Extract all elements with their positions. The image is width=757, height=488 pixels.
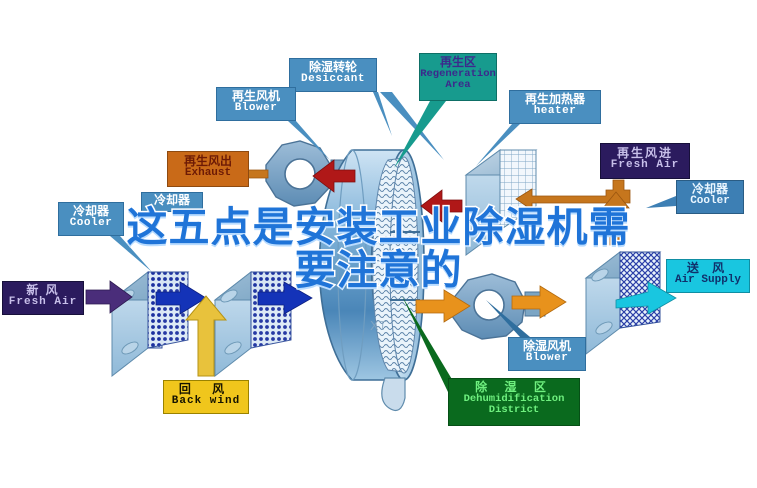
label-en: Cooler (677, 196, 743, 208)
label-fresh-air-inlet[interactable]: 新 风 Fresh Air (2, 281, 84, 315)
label-cn: 再生区 (420, 56, 496, 69)
label-cn: 回 风 (164, 383, 248, 396)
label-dehumid-blower[interactable]: 除湿风机 Blower (508, 337, 586, 371)
label-regen-blower[interactable]: 再生风机 Blower (216, 87, 296, 121)
label-en: Back wind (164, 396, 248, 408)
label-en: Blower (509, 353, 585, 365)
label-cooler-right[interactable]: 冷却器 Cooler (676, 180, 744, 214)
label-en: Air Supply (667, 275, 749, 287)
watermark: XT (370, 318, 387, 333)
cooler-block-left-2 (215, 272, 291, 376)
label-desiccant-wheel[interactable]: 除湿转轮 Desiccant (289, 58, 377, 92)
label-cooler-upper[interactable]: 冷却器 (141, 192, 203, 212)
diagram-canvas: XT (0, 0, 757, 488)
label-cn: 再生风机 (217, 90, 295, 103)
label-cn: 冷却器 (59, 205, 123, 218)
label-en: Desiccant (290, 74, 376, 86)
label-cn: 送 风 (667, 262, 749, 275)
label-en: Dehumidification District (449, 394, 579, 417)
label-cn: 再生风进 (601, 147, 689, 160)
desiccant-rotor: XT (319, 150, 424, 410)
label-en: Cooler (59, 218, 123, 230)
label-regeneration-area[interactable]: 再生区 Regeneration Area (419, 53, 497, 101)
label-regen-fresh-air[interactable]: 再生风进 Fresh Air (600, 143, 690, 179)
label-regen-heater[interactable]: 再生加热器 heater (509, 90, 601, 124)
label-en: heater (510, 106, 600, 118)
label-en: Blower (217, 103, 295, 115)
label-cn: 冷却器 (677, 183, 743, 196)
label-en: Fresh Air (601, 160, 689, 172)
label-air-supply[interactable]: 送 风 Air Supply (666, 259, 750, 293)
label-cn: 除 湿 区 (449, 381, 579, 394)
label-cn: 新 风 (3, 284, 83, 297)
label-cn: 再生风出 (168, 155, 248, 168)
label-en: Regeneration Area (420, 69, 496, 92)
label-cn: 除湿风机 (509, 340, 585, 353)
cooler-block-left (112, 272, 188, 376)
label-cn: 冷却器 (142, 194, 202, 207)
label-regen-exhaust[interactable]: 再生风出 Exhaust (167, 151, 249, 187)
label-cn: 再生加热器 (510, 93, 600, 106)
regen-heater-arrow (421, 190, 462, 222)
label-en: Exhaust (168, 168, 248, 180)
label-en: Fresh Air (3, 297, 83, 309)
label-dehumidification-district[interactable]: 除 湿 区 Dehumidification District (448, 378, 580, 426)
label-cooler-left[interactable]: 冷却器 Cooler (58, 202, 124, 236)
label-back-wind[interactable]: 回 风 Back wind (163, 380, 249, 414)
label-cn: 除湿转轮 (290, 61, 376, 74)
dehumidifier-schematic: XT (0, 0, 757, 488)
